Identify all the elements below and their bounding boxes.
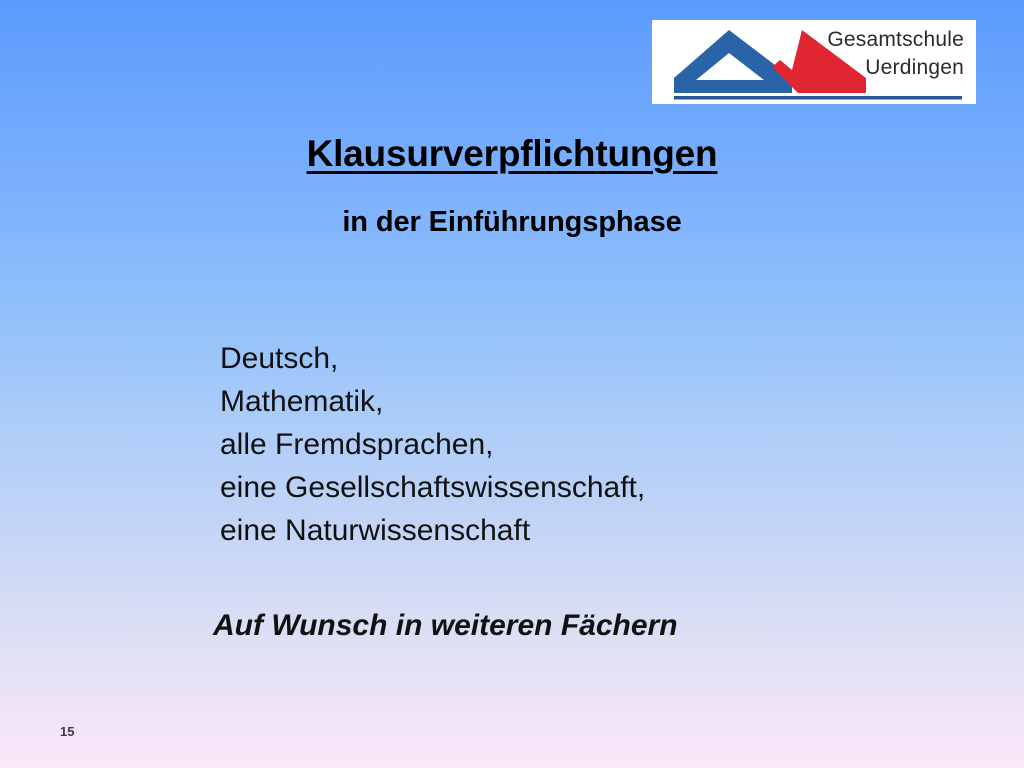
list-item: eine Naturwissenschaft [220, 509, 980, 552]
slide-title-text: Klausurverpflichtungen [307, 133, 718, 174]
presentation-slide: Gesamtschule Uerdingen Klausurverpflicht… [0, 0, 1024, 768]
logo-rule [674, 96, 962, 100]
logo-line-1: Gesamtschule [784, 26, 964, 54]
slide-title: Klausurverpflichtungen [0, 133, 1024, 175]
list-item: eine Gesellschaftswissenschaft, [220, 466, 980, 509]
slide-subtitle: in der Einführungsphase [0, 206, 1024, 239]
slide-page-number: 15 [60, 724, 74, 739]
list-item: Mathematik, [220, 380, 980, 423]
logo-wordmark: Gesamtschule Uerdingen [784, 26, 964, 82]
list-item: alle Fremdsprachen, [220, 423, 980, 466]
optional-subjects-note: Auf Wunsch in weiteren Fächern [213, 609, 973, 643]
logo-line-2: Uerdingen [784, 54, 964, 82]
subject-list: Deutsch, Mathematik, alle Fremdsprachen,… [220, 337, 980, 552]
school-logo: Gesamtschule Uerdingen [652, 20, 976, 104]
list-item: Deutsch, [220, 337, 980, 380]
